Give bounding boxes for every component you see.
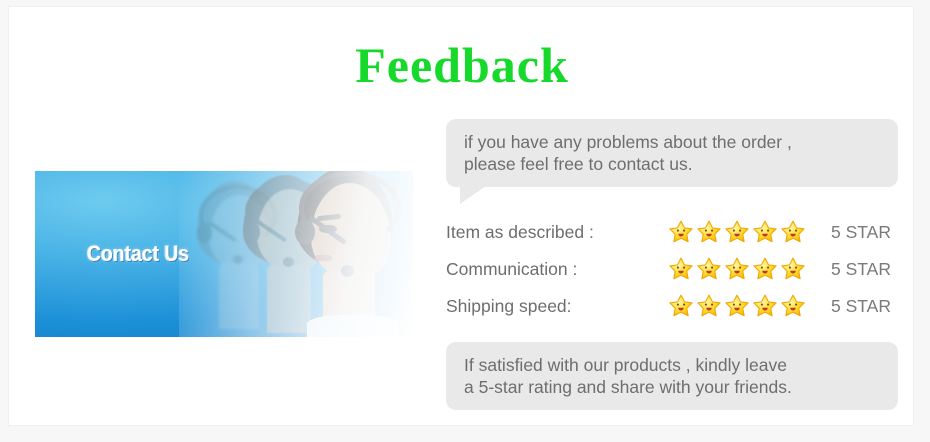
star-icon	[752, 293, 778, 319]
contact-us-banner-image: Contact Us	[35, 171, 413, 337]
feedback-banner-page: Feedback Contact Us	[0, 0, 930, 442]
star-icon	[780, 293, 806, 319]
star-icon	[752, 219, 778, 245]
rating-label: Shipping speed:	[446, 296, 668, 316]
banner-white-fade	[179, 171, 413, 337]
star-icon	[724, 219, 750, 245]
rating-row: Shipping speed: 5 STAR	[446, 287, 898, 324]
star-icon	[696, 219, 722, 245]
rating-request-line-2: a 5-star rating and share with your frie…	[464, 376, 882, 398]
banner-caption: Contact Us	[87, 241, 189, 267]
star-icon	[780, 219, 806, 245]
star-icon	[668, 219, 694, 245]
rating-value: 5 STAR	[808, 259, 891, 279]
star-rating	[668, 256, 808, 282]
content-card: Feedback Contact Us	[8, 6, 914, 426]
rating-row: Communication : 5 STAR	[446, 250, 898, 287]
feedback-content-column: if you have any problems about the order…	[446, 119, 898, 410]
rating-request-line-1: If satisfied with our products , kindly …	[464, 354, 882, 376]
star-icon	[780, 256, 806, 282]
contact-message-bubble: if you have any problems about the order…	[446, 119, 898, 187]
star-icon	[724, 293, 750, 319]
rating-label: Communication :	[446, 259, 668, 279]
ratings-list: Item as described : 5 STAR Communication…	[446, 213, 898, 324]
rating-request-bubble: If satisfied with our products , kindly …	[446, 342, 898, 410]
page-title: Feedback	[9, 37, 915, 93]
star-rating	[668, 219, 808, 245]
rating-row: Item as described : 5 STAR	[446, 213, 898, 250]
star-icon	[696, 293, 722, 319]
star-icon	[668, 293, 694, 319]
star-icon	[696, 256, 722, 282]
star-icon	[752, 256, 778, 282]
star-icon	[668, 256, 694, 282]
bubble-tail	[460, 186, 486, 204]
star-icon	[724, 256, 750, 282]
star-rating	[668, 293, 808, 319]
rating-value: 5 STAR	[808, 296, 891, 316]
rating-label: Item as described :	[446, 222, 668, 242]
contact-message-line-1: if you have any problems about the order…	[464, 131, 882, 153]
rating-value: 5 STAR	[808, 222, 891, 242]
contact-message-line-2: please feel free to contact us.	[464, 153, 882, 175]
